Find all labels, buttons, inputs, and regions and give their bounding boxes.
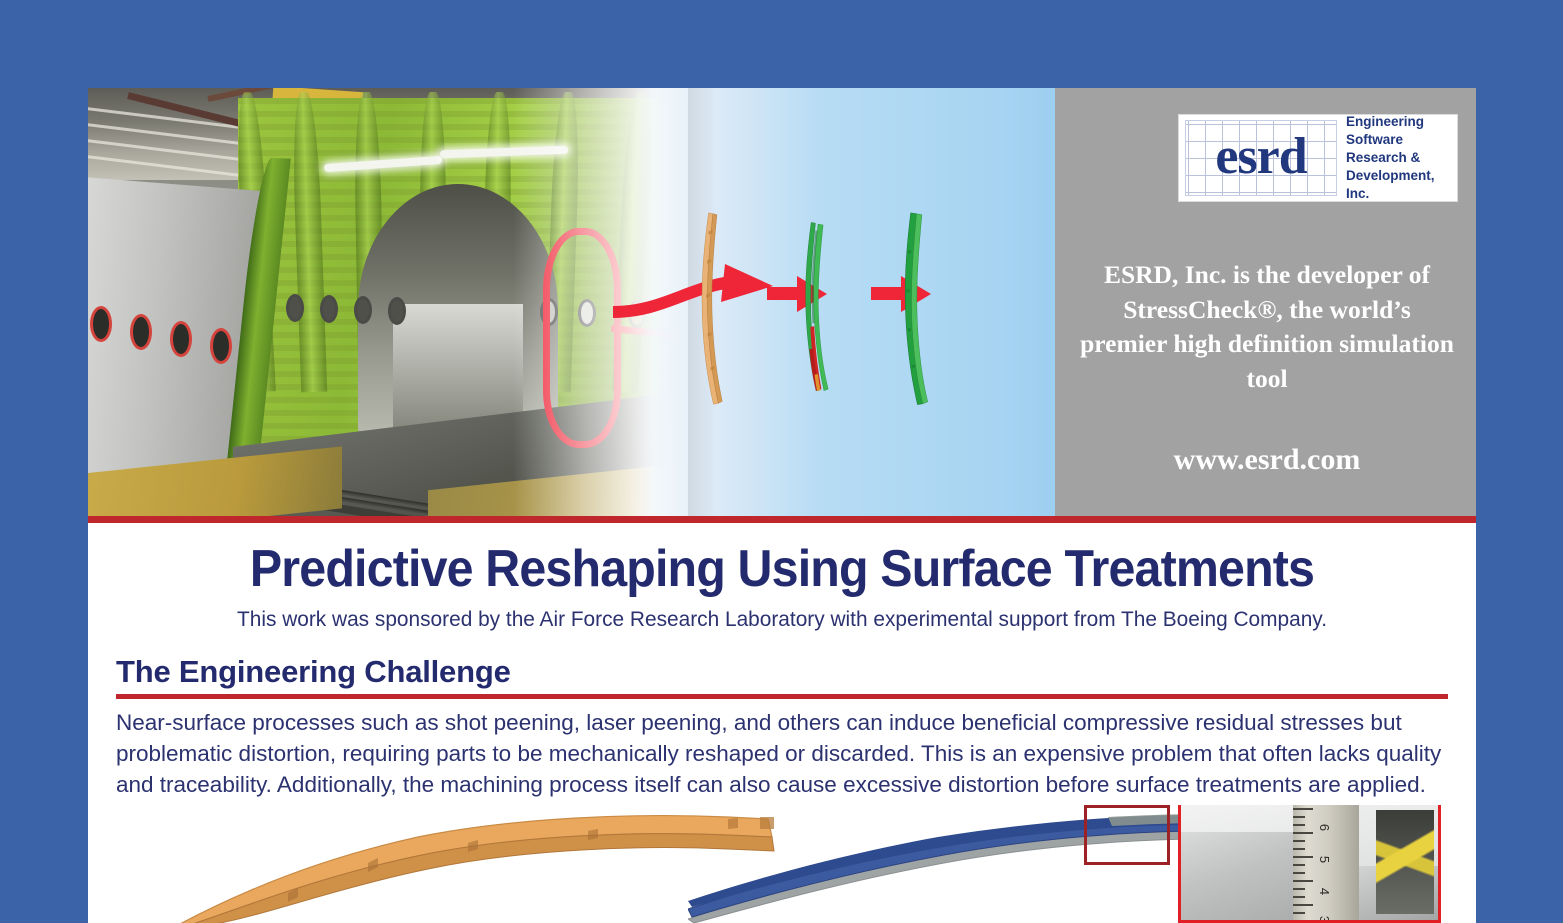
content-body: Predictive Reshaping Using Surface Treat… bbox=[88, 523, 1476, 923]
interior-window bbox=[286, 294, 304, 322]
esrd-website-url[interactable]: www.esrd.com bbox=[1079, 443, 1455, 477]
lower-figures: 6 5 4 3 bbox=[88, 805, 1476, 923]
hero-divider-rule bbox=[88, 516, 1476, 523]
logo-line-development: Development, Inc. bbox=[1346, 167, 1451, 203]
logo-line-research: Research & bbox=[1346, 149, 1451, 167]
esrd-brand-panel: esrd Engineering Software Research & Dev… bbox=[1055, 88, 1476, 516]
stringer-stage-1-as-machined bbox=[695, 104, 729, 514]
esrd-logo: esrd Engineering Software Research & Dev… bbox=[1178, 114, 1458, 202]
red-outlined-window bbox=[90, 306, 112, 342]
stringer-stage-3-reshaped bbox=[901, 104, 935, 514]
interior-window bbox=[354, 296, 372, 324]
section-heading-engineering-challenge: The Engineering Challenge bbox=[116, 654, 1476, 690]
page-subtitle: This work was sponsored by the Air Force… bbox=[109, 607, 1455, 632]
page-title: Predictive Reshaping Using Surface Treat… bbox=[137, 542, 1428, 597]
interior-window bbox=[320, 295, 338, 323]
metal-plate-left bbox=[1181, 832, 1295, 923]
detail-callout-box bbox=[1084, 805, 1170, 865]
esrd-logo-wordmark: esrd bbox=[1215, 131, 1306, 183]
section-paragraph: Near-surface processes such as shot peen… bbox=[116, 707, 1451, 800]
hero-band: esrd Engineering Software Research & Dev… bbox=[88, 88, 1476, 516]
poster-root: esrd Engineering Software Research & Dev… bbox=[0, 0, 1563, 923]
yellow-strap bbox=[1376, 810, 1434, 914]
ruler-measurement-photo: 6 5 4 3 bbox=[1178, 805, 1441, 923]
esrd-tagline: ESRD, Inc. is the developer of StressChe… bbox=[1079, 258, 1455, 397]
red-outlined-window bbox=[130, 314, 152, 350]
fuselage-photo bbox=[88, 88, 688, 516]
red-outlined-window bbox=[170, 321, 192, 357]
logo-line-engineering: Engineering bbox=[1346, 113, 1451, 131]
logo-line-software: Software bbox=[1346, 131, 1451, 149]
section-heading-rule bbox=[116, 694, 1448, 699]
stringer-stage-2-residual-stress bbox=[801, 102, 835, 512]
steel-ruler: 6 5 4 3 bbox=[1293, 805, 1359, 923]
red-outlined-window bbox=[210, 328, 232, 364]
esrd-logo-grid: esrd bbox=[1185, 120, 1337, 196]
esrd-logo-tagline-lines: Engineering Software Research & Developm… bbox=[1337, 115, 1457, 201]
interior-window bbox=[388, 297, 406, 325]
frame-rib bbox=[291, 92, 327, 393]
